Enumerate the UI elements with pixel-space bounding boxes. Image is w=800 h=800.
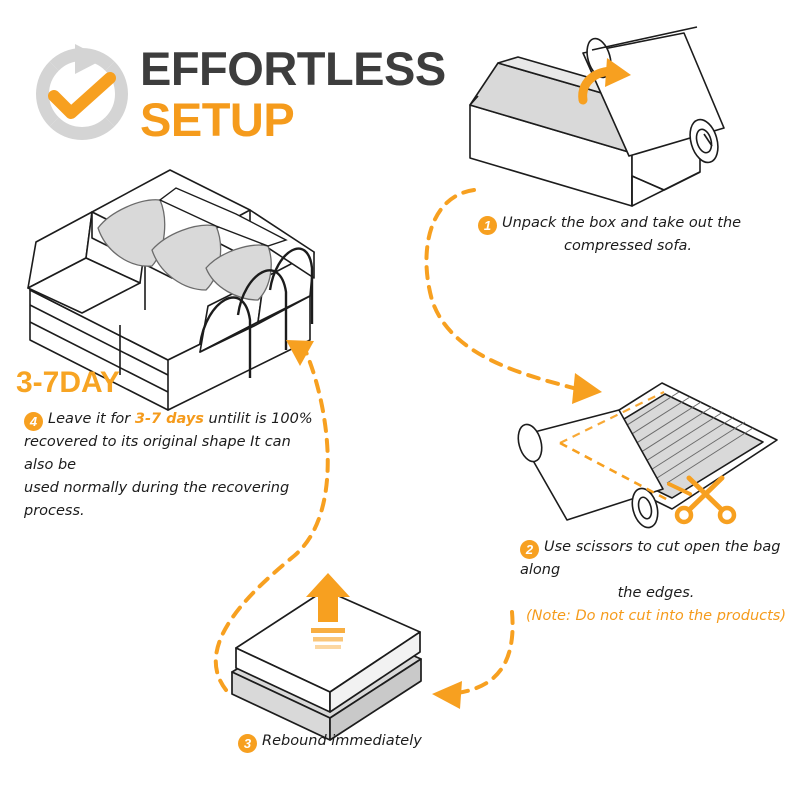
infographic-page: EFFORTLESS SETUP	[0, 0, 800, 800]
step-4-text: 4Leave it for 3-7 days untilit is 100% r…	[24, 408, 314, 523]
vacuum-bag-illustration	[514, 383, 777, 530]
step-3-text: 3Rebound immediately	[238, 730, 458, 753]
scissors-icon	[669, 478, 734, 522]
step-4-line-1-post: untilit is 100%	[204, 411, 313, 427]
header-title: EFFORTLESS SETUP	[140, 44, 446, 146]
step-1-line-2: compressed sofa.	[478, 235, 778, 258]
step-4-line-1: 4Leave it for 3-7 days untilit is 100%	[24, 408, 314, 431]
step-4-line-1-pre: Leave it for	[48, 411, 135, 427]
step-1-line-1-text: Unpack the box and take out the	[502, 215, 741, 231]
step-1-badge: 1	[478, 216, 497, 235]
rolled-sofa-illustration	[583, 27, 724, 166]
step-3-line-1-text: Rebound immediately	[262, 733, 422, 749]
step-2-line-2: the edges.	[520, 582, 792, 605]
sofa-straps	[200, 249, 312, 378]
step-1-text: 1Unpack the box and take out the compres…	[478, 212, 778, 258]
header: EFFORTLESS SETUP	[28, 38, 448, 158]
title-line-2: SETUP	[140, 94, 446, 146]
step-4-line-2: recovered to its original shape It can a…	[24, 431, 314, 477]
step-2-text: 2Use scissors to cut open the bag along …	[520, 536, 792, 628]
cut-line	[560, 443, 668, 500]
sofa-back-strip	[160, 188, 286, 246]
step-4-badge: 4	[24, 412, 43, 431]
sofa-pillows	[98, 200, 271, 300]
cushion-illustration	[232, 590, 421, 740]
step-3-badge: 3	[238, 734, 257, 753]
up-arrow-icon	[306, 573, 350, 649]
step-2-badge: 2	[520, 540, 539, 559]
step-2-line-1-text: Use scissors to cut open the bag along	[520, 539, 780, 578]
flow-arrow-2-to-3	[432, 612, 513, 709]
cut-line-top	[560, 392, 664, 443]
rotate-arrow-icon	[583, 58, 631, 100]
step-1-line-1: 1Unpack the box and take out the	[478, 212, 778, 235]
duration-label: 3-7DAY	[16, 366, 120, 400]
refresh-check-icon	[28, 40, 136, 148]
step-2-note: (Note: Do not cut into the products)	[520, 605, 792, 628]
step-2-line-1: 2Use scissors to cut open the bag along	[520, 536, 792, 582]
step-3-line-1: 3Rebound immediately	[238, 730, 458, 753]
title-line-1: EFFORTLESS	[140, 44, 446, 94]
box-illustration	[470, 57, 700, 206]
step-4-line-3: used normally during the recovering proc…	[24, 477, 314, 523]
step-4-highlight: 3-7 days	[135, 411, 204, 427]
